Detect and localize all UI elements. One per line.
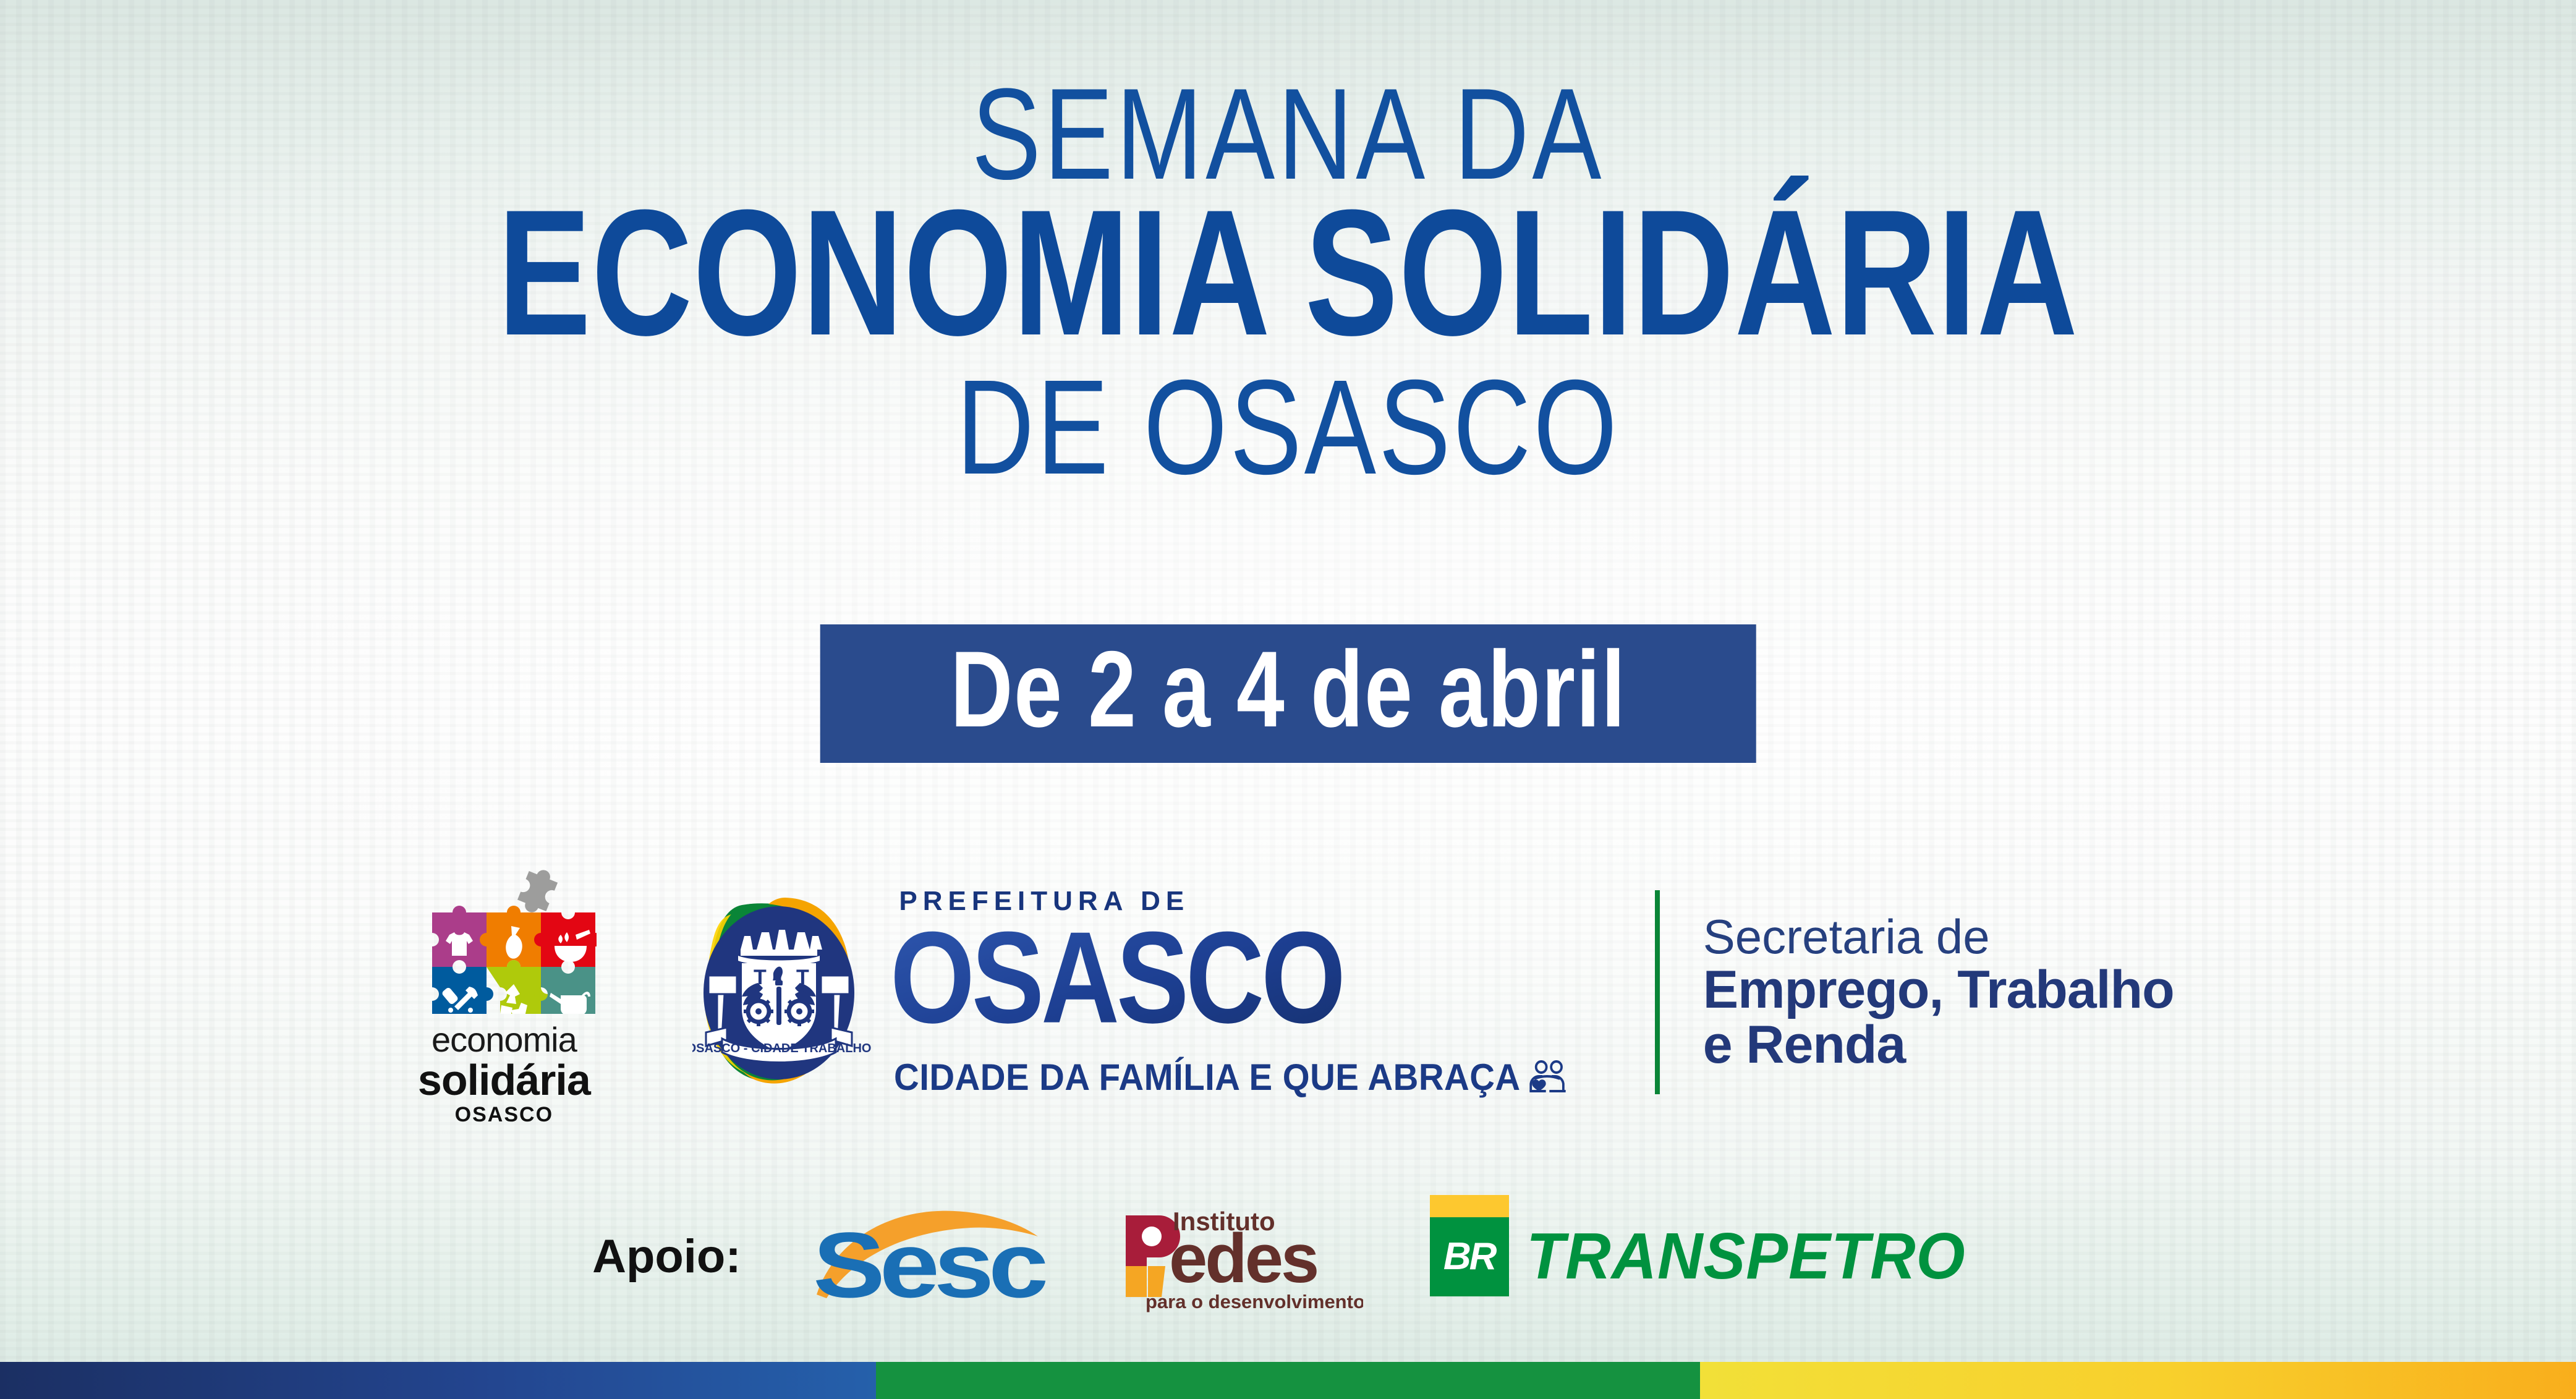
crest-motto: OSASCO - CIDADE TRABALHO (692, 1042, 871, 1055)
ecosol-word-solidaria: solidária (418, 1058, 590, 1102)
secretaria-line-2: Emprego, Trabalho (1703, 963, 2174, 1018)
apoio-label: Apoio: (592, 1230, 741, 1283)
prefeitura-kicker: PREFEITURA DE (899, 886, 1189, 917)
br-badge: BR (1430, 1217, 1509, 1296)
secretaria-line-1: Secretaria de (1703, 912, 2174, 963)
puzzle-piece-grey (515, 865, 560, 917)
puzzle-graphic (411, 859, 597, 1014)
svg-text:OSASCO: OSASCO (890, 921, 1343, 1048)
redes-wordmark: edes (1169, 1220, 1317, 1297)
bottom-bar-green (876, 1362, 1700, 1399)
headline-main: ECONOMIA SOLIDÁRIA (283, 189, 2292, 357)
logo-instituto-redes: Instituto edes para o desenvolvimento (1116, 1198, 1363, 1316)
headline-sub: DE OSASCO (258, 364, 2319, 491)
secretaria-line-3: e Renda (1703, 1018, 2174, 1073)
organizer-logo-row: economia solidária OSASCO (0, 831, 2576, 1153)
puzzle-piece-blue (432, 967, 493, 1014)
sesc-icon: Sesc (808, 1198, 1049, 1316)
event-banner: SEMANA DA ECONOMIA SOLIDÁRIA DE OSASCO D… (0, 0, 2576, 1399)
bottom-bar-yellow (1700, 1362, 2576, 1399)
logo-economia-solidaria: economia solidária OSASCO (402, 859, 606, 1125)
prefeitura-slogan: CIDADE DA FAMÍLIA E QUE ABRAÇA (894, 1056, 1521, 1099)
coat-of-arms-icon: T T (692, 890, 878, 1094)
osasco-crest-graphic: T T (692, 890, 878, 1094)
date-badge-label: De 2 a 4 de abril (950, 633, 1626, 747)
prefeitura-slogan-row: CIDADE DA FAMÍLIA E QUE ABRAÇA (894, 1056, 1568, 1099)
redes-subtitle: para o desenvolvimento (1146, 1291, 1363, 1312)
puzzle-icon (411, 859, 597, 1014)
puzzle-piece-red (534, 912, 597, 967)
hug-people-icon (1526, 1060, 1568, 1094)
economia-solidaria-wordmark: economia solidária OSASCO (418, 1023, 590, 1125)
bottom-color-bar (0, 1362, 2576, 1399)
logo-transpetro: BR TRANSPETRO (1430, 1217, 1984, 1296)
sesc-wordmark: Sesc (813, 1213, 1046, 1316)
br-wordmark: BR (1443, 1235, 1495, 1278)
osasco-wordmark-icon: OSASCO (890, 921, 1348, 1048)
logo-sesc: Sesc (808, 1198, 1049, 1316)
br-yellow-strip (1430, 1195, 1509, 1217)
bottom-bar-blue (0, 1362, 876, 1399)
ecosol-word-economia: economia (418, 1023, 590, 1057)
prefeitura-wordmark: PREFEITURA DE OSASCO CIDADE DA F (894, 886, 1611, 1098)
logo-prefeitura-osasco: T T (692, 886, 2174, 1098)
transpetro-wordmark: TRANSPETRO (1526, 1219, 1966, 1294)
instituto-redes-icon: Instituto edes para o desenvolvimento (1116, 1198, 1363, 1316)
date-badge: De 2 a 4 de abril (820, 624, 1756, 763)
headline-block: SEMANA DA ECONOMIA SOLIDÁRIA DE OSASCO (0, 74, 2576, 491)
puzzle-piece-teal (541, 967, 595, 1014)
logo-secretaria: Secretaria de Emprego, Trabalho e Renda (1703, 912, 2174, 1073)
sponsor-row: Apoio: Sesc Instituto edes para o desen (0, 1190, 2576, 1323)
secretaria-divider (1655, 890, 1660, 1094)
prefeitura-osasco-word: OSASCO (890, 921, 1348, 1049)
ecosol-word-osasco: OSASCO (418, 1104, 590, 1125)
